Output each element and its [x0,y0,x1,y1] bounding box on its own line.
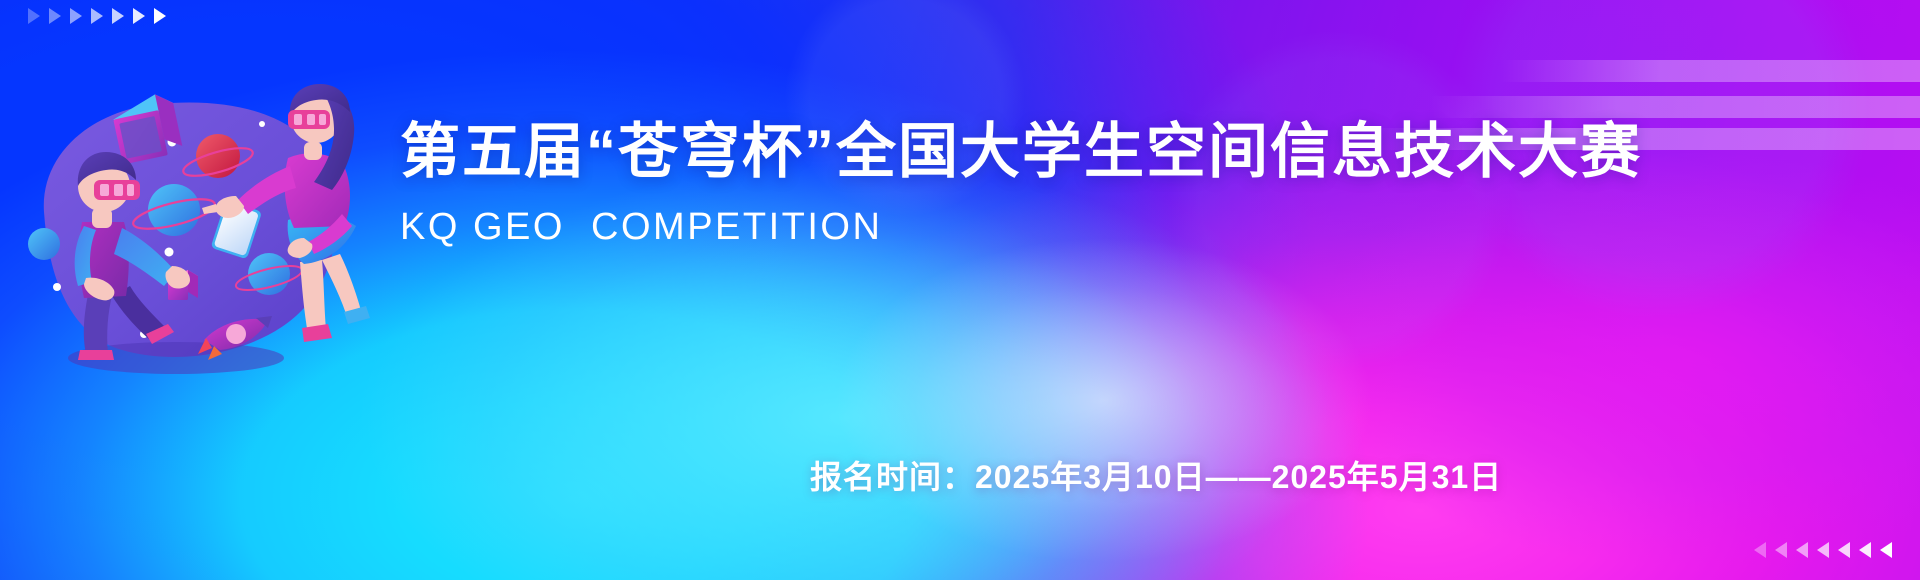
arrow-left-icon [1754,542,1766,558]
arrow-right-icon [112,8,124,24]
arrow-left-icon [1817,542,1829,558]
arrow-left-icon [1838,542,1850,558]
vr-students-space-illustration [26,62,356,382]
page-title: 第五届“苍穹杯”全国大学生空间信息技术大赛 [400,118,1900,185]
stripe-1 [1500,60,1920,82]
arrow-left-icon [1880,542,1892,558]
arrow-left-icon [1796,542,1808,558]
arrow-right-icon [28,8,40,24]
stripe-2 [1430,96,1920,118]
registration-period: 报名时间：2025年3月10日——2025年5月31日 [810,452,1502,498]
arrow-right-icon [70,8,82,24]
arrow-right-icon [154,8,166,24]
arrow-row-bottom-right [1754,542,1892,558]
arrow-row-top-left [28,8,166,24]
arrow-right-icon [49,8,61,24]
arrow-right-icon [91,8,103,24]
arrow-left-icon [1775,542,1787,558]
competition-banner: 第五届“苍穹杯”全国大学生空间信息技术大赛 KQ GEO COMPETITION… [0,0,1920,580]
arrow-left-icon [1859,542,1871,558]
planet-blue-tiny [28,228,60,260]
banner-text-block: 第五届“苍穹杯”全国大学生空间信息技术大赛 KQ GEO COMPETITION [400,118,1900,249]
subtitle-english: KQ GEO COMPETITION [400,207,1900,249]
arrow-right-icon [133,8,145,24]
